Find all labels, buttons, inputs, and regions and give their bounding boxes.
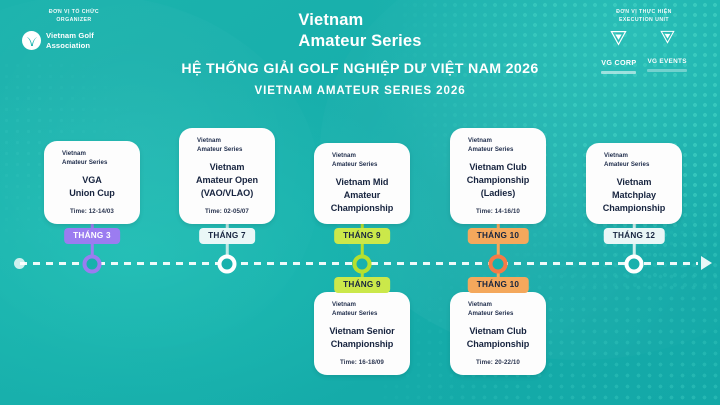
event-card-kicker: VietnamAmateur Series <box>186 137 268 154</box>
timeline-node-vietnam-amateur-open[interactable] <box>218 254 237 273</box>
timeline-node-vietnam-senior-championship[interactable] <box>353 254 372 273</box>
month-badge-vga-union-cup: THÁNG 3 <box>64 228 120 244</box>
axis-start-dot <box>14 258 25 269</box>
event-card-name: VietnamAmateur Open(VAO/VLAO) <box>186 161 268 200</box>
event-card-name: Vietnam SeniorChampionship <box>321 325 403 351</box>
month-badge-vietnam-club-championship: THÁNG 10 <box>468 277 529 293</box>
event-card-kicker: VietnamAmateur Series <box>457 137 539 154</box>
month-badge-vietnam-amateur-open: THÁNG 7 <box>199 228 255 244</box>
timeline-node-vietnam-club-championship[interactable] <box>489 254 508 273</box>
event-card-kicker: VietnamAmateur Series <box>51 150 133 167</box>
event-card-kicker: VietnamAmateur Series <box>593 152 675 169</box>
event-card-vietnam-club-championship-ladies[interactable]: VietnamAmateur SeriesVietnam ClubChampio… <box>450 128 546 224</box>
event-card-vietnam-mid-amateur-championship[interactable]: VietnamAmateur SeriesVietnam MidAmateurC… <box>314 143 410 224</box>
event-card-name: VGAUnion Cup <box>51 174 133 200</box>
event-card-vietnam-matchplay-championship[interactable]: VietnamAmateur SeriesVietnamMatchplayCha… <box>586 143 682 224</box>
event-card-vietnam-amateur-open[interactable]: VietnamAmateur SeriesVietnamAmateur Open… <box>179 128 275 224</box>
timeline-node-vga-union-cup[interactable] <box>83 254 102 273</box>
event-card-name: Vietnam MidAmateurChampionship <box>321 176 403 215</box>
event-card-vietnam-club-championship[interactable]: VietnamAmateur SeriesVietnam ClubChampio… <box>450 292 546 375</box>
event-card-time: Time: 12-14/03 <box>51 208 133 215</box>
event-card-kicker: VietnamAmateur Series <box>321 301 403 318</box>
month-badge-vietnam-mid-amateur-championship: THÁNG 9 <box>334 228 390 244</box>
axis-arrow-icon <box>701 256 712 270</box>
event-card-vietnam-senior-championship[interactable]: VietnamAmateur SeriesVietnam SeniorChamp… <box>314 292 410 375</box>
event-card-name: Vietnam ClubChampionship <box>457 325 539 351</box>
month-badge-vietnam-senior-championship: THÁNG 9 <box>334 277 390 293</box>
timeline: THÁNG 3VietnamAmateur SeriesVGAUnion Cup… <box>0 0 720 405</box>
month-badge-vietnam-matchplay-championship: THÁNG 12 <box>604 228 665 244</box>
event-card-time: Time: 14-16/10 <box>457 208 539 215</box>
event-card-time: Time: 02-05/07 <box>186 208 268 215</box>
event-card-kicker: VietnamAmateur Series <box>321 152 403 169</box>
event-card-kicker: VietnamAmateur Series <box>457 301 539 318</box>
month-badge-vietnam-club-championship-ladies: THÁNG 10 <box>468 228 529 244</box>
event-card-name: VietnamMatchplayChampionship <box>593 176 675 215</box>
event-card-time: Time: 20-22/10 <box>457 359 539 366</box>
event-card-vga-union-cup[interactable]: VietnamAmateur SeriesVGAUnion CupTime: 1… <box>44 141 140 224</box>
event-card-time: Time: 16-18/09 <box>321 359 403 366</box>
event-card-name: Vietnam ClubChampionship(Ladies) <box>457 161 539 200</box>
timeline-node-vietnam-matchplay-championship[interactable] <box>625 254 644 273</box>
